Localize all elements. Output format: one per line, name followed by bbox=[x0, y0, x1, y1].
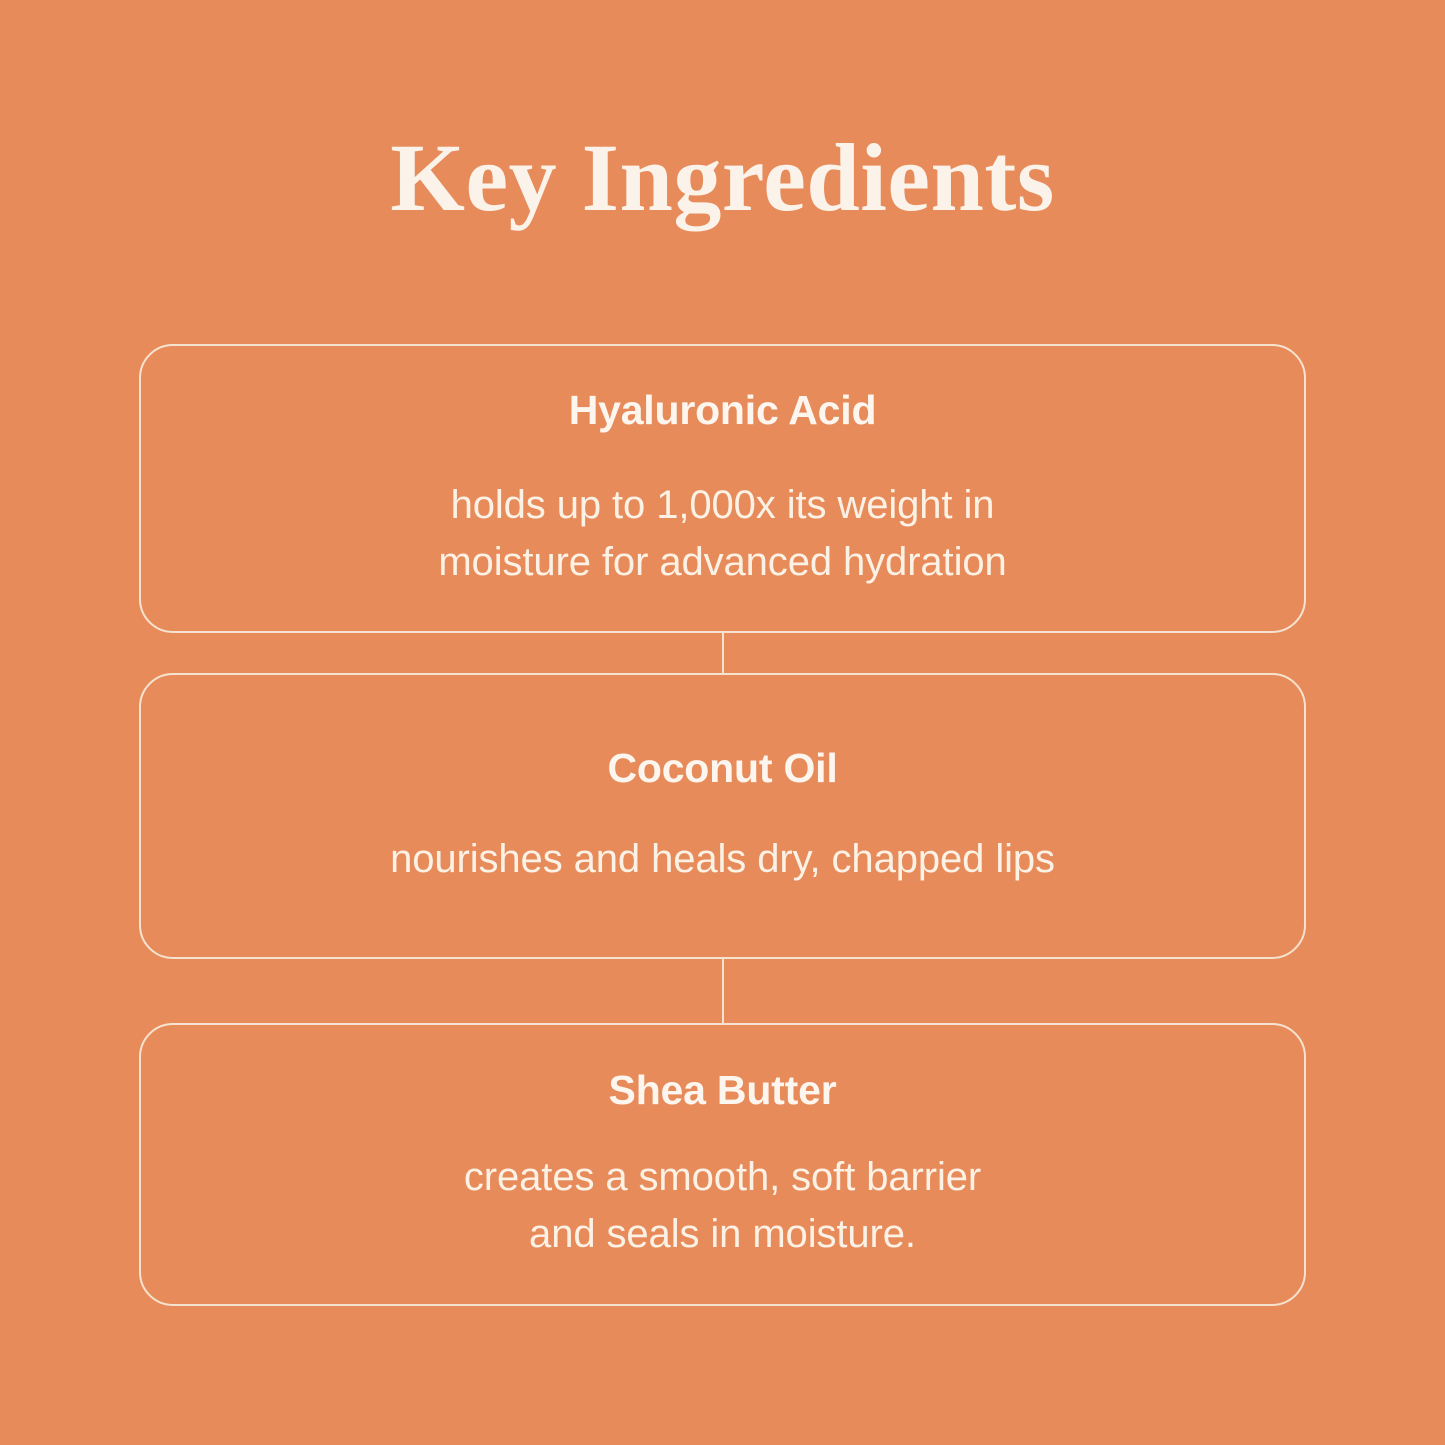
ingredient-name-coconut-oil: Coconut Oil bbox=[607, 744, 837, 793]
ingredient-name-hyaluronic-acid: Hyaluronic Acid bbox=[569, 386, 877, 435]
page-title: Key Ingredients bbox=[390, 128, 1054, 229]
ingredient-card-stack: Hyaluronic Acid holds up to 1,000x its w… bbox=[139, 344, 1306, 1306]
ingredient-description-shea-butter: creates a smooth, soft barrier and seals… bbox=[464, 1149, 981, 1263]
ingredient-description-coconut-oil: nourishes and heals dry, chapped lips bbox=[390, 831, 1055, 888]
ingredient-description-hyaluronic-acid: holds up to 1,000x its weight in moistur… bbox=[438, 477, 1006, 591]
ingredient-name-shea-butter: Shea Butter bbox=[609, 1066, 837, 1115]
ingredient-card-hyaluronic-acid: Hyaluronic Acid holds up to 1,000x its w… bbox=[139, 344, 1306, 633]
ingredient-card-shea-butter: Shea Butter creates a smooth, soft barri… bbox=[139, 1023, 1306, 1306]
connector-line-2 bbox=[722, 959, 724, 1023]
key-ingredients-poster: Key Ingredients Hyaluronic Acid holds up… bbox=[0, 0, 1445, 1445]
ingredient-card-coconut-oil: Coconut Oil nourishes and heals dry, cha… bbox=[139, 673, 1306, 959]
page-title-container: Key Ingredients bbox=[0, 128, 1445, 229]
connector-line-1 bbox=[722, 633, 724, 673]
